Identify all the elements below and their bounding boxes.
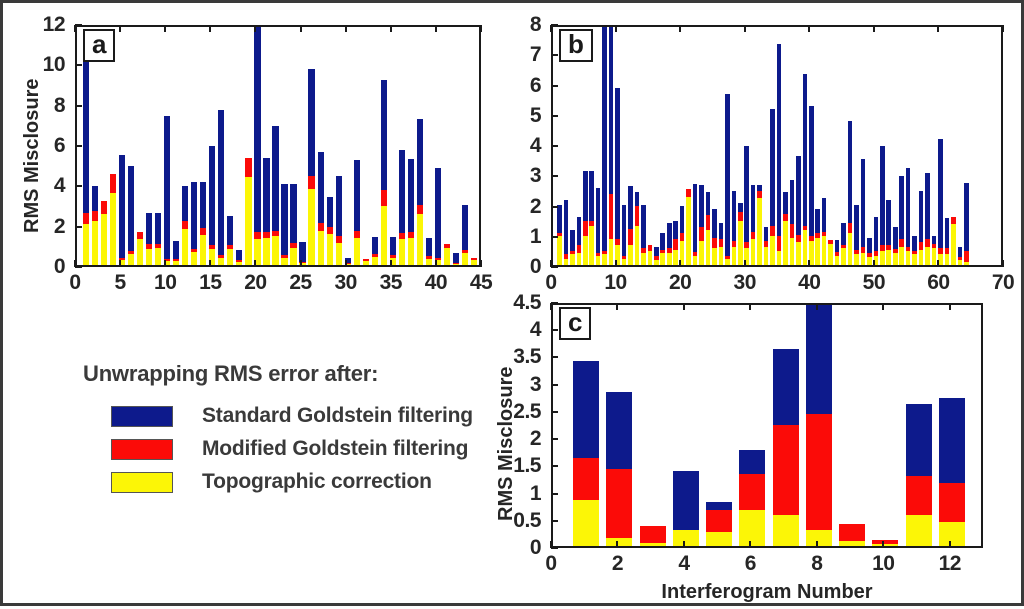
bar [880,146,885,265]
bar-segment-blue [673,221,678,239]
bar-segment-blue [263,158,269,232]
bar-segment-blue [706,502,732,510]
bar [564,200,569,265]
bar [744,146,749,265]
bar-segment-blue [919,191,924,242]
x-tick-mark [749,541,751,548]
bar-segment-red [453,263,459,264]
legend-swatch-topographic [111,472,173,493]
bar-segment-yellow [790,238,795,265]
bar-segment-blue [744,146,749,243]
bar-segment-yellow [609,239,614,265]
x-tick-label: 40 [425,271,447,295]
bar-segment-yellow [706,230,711,265]
bar [854,205,859,266]
y-tick-label: 6 [54,134,65,158]
bar-segment-yellow [182,229,188,265]
bar-segment-yellow [919,250,924,265]
x-tick-label: 10 [154,271,176,295]
bar-segment-blue [236,250,242,260]
bar [809,106,814,265]
bar-segment-red [919,242,924,250]
y-tick-label: 4 [530,318,541,342]
y-tick-label: 5 [530,104,541,128]
panel-b-tag: b [559,29,593,62]
x-tick-mark-top [808,25,810,32]
bar-segment-yellow [912,254,917,265]
bar-segment-blue [155,213,161,244]
y-tick-label: 8 [530,13,541,37]
bar-segment-yellow [318,231,324,265]
bar-segment-blue [426,238,432,256]
bar-segment-yellow [372,257,378,265]
bar-segment-red [635,206,640,226]
x-tick-mark-top [882,303,884,310]
bar-segment-red [426,256,432,259]
bar [408,159,414,265]
bar-segment-yellow [596,256,601,265]
bar-segment-blue [327,197,333,226]
x-tick-label: 6 [745,552,756,576]
y-tick-mark [75,226,82,228]
bar-segment-red [462,250,468,253]
bar-segment-yellow [453,264,459,265]
bar [444,244,450,265]
bar-segment-yellow [408,238,414,265]
x-tick-label: 20 [669,271,691,295]
bar [435,168,441,265]
x-tick-mark [808,260,810,267]
y-tick-label: 2 [54,215,65,239]
bar [815,209,820,265]
x-tick-mark-top [254,25,256,32]
bar-segment-blue [622,205,627,256]
bar-segment-yellow [290,248,296,265]
y-tick-mark [551,85,558,87]
bar-segment-yellow [835,256,840,265]
bar-segment-red [640,526,666,543]
bar-segment-red [660,250,665,253]
bar [557,205,562,266]
bar-segment-red [951,217,956,225]
bar-segment-blue [660,233,665,250]
bar-segment-yellow [110,193,116,265]
bar-segment-yellow [939,522,965,546]
bar [773,349,799,546]
bar-segment-yellow [354,238,360,265]
y-tick-mark [551,24,558,26]
bar [706,502,732,546]
bar-segment-blue [725,94,730,256]
y-tick-label: 3 [530,373,541,397]
bar-segment-blue [609,25,614,194]
x-tick-label: 70 [992,271,1014,295]
bar-segment-yellow [893,253,898,265]
bar-segment-yellow [777,251,782,265]
bar-segment-red [602,251,607,254]
bar [939,398,965,546]
bar-segment-yellow [606,538,632,546]
bar-segment-red [925,239,930,247]
bar [839,524,865,546]
bar-segment-yellow [719,247,724,265]
bar-segment-red [200,228,206,235]
panel-b: b 012345678 010203040506070 [503,3,1024,303]
bar-segment-red [609,194,614,239]
x-tick-label: 60 [927,271,949,295]
bar [200,182,206,265]
bar-segment-red [570,251,575,254]
bar-segment-yellow [899,247,904,265]
y-tick-label: 0 [530,255,541,279]
x-tick-label: 2 [612,552,623,576]
bar [680,206,685,265]
bar [667,223,672,265]
bar-segment-blue [912,236,917,251]
y-tick-mark [75,24,82,26]
bar-segment-red [848,223,853,234]
bar-segment-red [841,245,846,248]
legend-title: Unwrapping RMS error after: [83,361,503,387]
bar-segment-red [815,233,820,238]
bar-segment-yellow [770,236,775,265]
y-tick-mark [551,236,558,238]
bar [164,116,170,265]
bar [602,25,607,265]
bar-segment-yellow [236,262,242,265]
bar-segment-blue [815,209,820,233]
bar [764,227,769,265]
bar-segment-yellow [641,253,646,265]
bar-segment-blue [435,168,441,258]
bar-segment-blue [738,203,743,212]
bar-segment-yellow [155,248,161,265]
bar [272,126,278,265]
bar-segment-yellow [906,251,911,265]
x-tick-mark [550,260,552,267]
x-tick-mark [615,260,617,267]
y-tick-label: 2.5 [513,400,541,424]
legend-swatch-standard [111,406,173,427]
bar-segment-red [822,232,827,237]
bar-segment-red [272,231,278,236]
bar [577,217,582,265]
x-tick-label: 12 [939,552,961,576]
bar-segment-blue [706,192,711,215]
bar-segment-red [673,239,678,250]
panel-c-xlabel: Interferogram Number [551,581,983,604]
x-tick-label: 15 [199,271,221,295]
bar-segment-red [245,158,251,177]
bar [570,230,575,265]
x-tick-label: 4 [678,552,689,576]
bar [738,203,743,265]
bar-segment-blue [164,116,170,259]
bar [783,192,788,265]
bar-segment-blue [92,186,98,210]
bar [640,526,666,546]
x-tick-mark-top [615,25,617,32]
bar-segment-yellow [426,259,432,265]
bar-segment-blue [806,303,832,414]
bar-segment-red [417,205,423,214]
bar-segment-yellow [272,236,278,265]
bar-segment-blue [399,150,405,233]
x-tick-mark [816,541,818,548]
bar-segment-red [699,227,704,241]
x-tick-label: 30 [334,271,356,295]
bar-segment-red [648,245,653,251]
bar [835,240,840,265]
bar-segment-blue [925,173,930,240]
bar-segment-red [596,253,601,256]
y-tick-label: 12 [43,13,65,37]
legend-swatch-modified [111,439,173,460]
bar-segment-blue [119,155,125,258]
bar-segment-red [964,251,969,262]
bar-segment-yellow [128,254,134,265]
legend-item-topographic: Topographic correction [83,470,503,494]
x-tick-label: 0 [69,271,80,295]
bar-segment-red [381,190,387,205]
x-tick-mark [74,260,76,267]
y-tick-label: 4.5 [513,291,541,315]
bar [254,27,260,265]
y-tick-mark [75,105,82,107]
bar-segment-blue [867,238,872,253]
bar-segment-blue [191,182,197,249]
bar [958,247,963,265]
bar-segment-yellow [945,254,950,265]
bar-segment-blue [227,216,233,245]
x-tick-mark-top [74,25,76,32]
panel-c-tag: c [559,307,591,340]
bar-segment-red [399,233,405,239]
bar-segment-red [622,256,627,259]
bar-segment-yellow [739,510,765,546]
legend-item-modified: Modified Goldstein filtering [83,437,503,461]
bar-segment-yellow [648,251,653,265]
x-tick-mark-top [480,25,482,32]
bar-segment-red [912,251,917,255]
x-tick-mark [882,541,884,548]
bar-segment-red [680,233,685,241]
y-tick-label: 1.5 [513,454,541,478]
x-tick-mark [949,541,951,548]
legend: Unwrapping RMS error after: Standard Gol… [83,361,503,503]
bar-segment-blue [673,471,699,530]
bar-segment-blue [583,171,588,221]
bar-segment-blue [596,188,601,253]
x-tick-label: 10 [604,271,626,295]
bar-segment-red [899,239,904,247]
y-tick-mark [551,438,558,440]
bar-segment-yellow [673,530,699,546]
bar-segment-red [146,244,152,249]
bar-segment-blue [680,206,685,233]
panel-a-ylabel: RMS Misclosure [21,79,44,233]
bar [796,156,801,265]
bar-segment-red [874,251,879,256]
bar-segment-blue [182,186,188,220]
bar-segment-yellow [146,249,152,265]
bar-segment-red [872,540,898,544]
bar-segment-red [770,226,775,237]
bar [589,171,594,265]
bar-segment-blue [783,192,788,213]
bar [308,69,314,265]
bar-segment-yellow [783,221,788,265]
bar-segment-blue [939,398,965,483]
bar-segment-yellow [906,515,932,546]
y-tick-label: 8 [54,94,65,118]
bar [893,227,898,265]
bar [790,180,795,265]
y-tick-mark [551,493,558,495]
bar-segment-red [764,241,769,247]
bar [628,186,633,265]
bar-segment-red [839,524,865,540]
bar-segment-blue [308,69,314,176]
x-tick-mark-top [873,25,875,32]
bar-segment-yellow [564,259,569,265]
x-tick-mark-top [679,25,681,32]
x-tick-mark-top [345,25,347,32]
bar-segment-blue [417,119,423,205]
x-tick-mark [616,541,618,548]
x-tick-label: 10 [872,552,894,576]
bar-segment-red [191,249,197,252]
bar [573,361,599,546]
bar-segment-red [263,232,269,238]
bar-segment-red [308,176,314,189]
bar-segment-yellow [732,247,737,265]
x-tick-label: 0 [545,552,556,576]
bar-segment-red [773,425,799,515]
bar-segment-blue [83,49,89,212]
x-tick-label: 5 [115,271,126,295]
bar-segment-blue [254,27,260,232]
bar-segment-blue [809,106,814,236]
bar-segment-blue [564,200,569,254]
bar-segment-red [880,245,885,251]
bar [693,184,698,265]
bar-segment-yellow [281,258,287,265]
x-tick-mark-top [1002,25,1004,32]
bar-segment-red [372,254,378,257]
bar-segment-red [354,231,360,238]
y-tick-label: 7 [530,43,541,67]
x-tick-mark-top [949,303,951,310]
y-tick-mark [551,520,558,522]
bar-segment-blue [757,185,762,191]
bar-segment-red [236,260,242,262]
x-tick-mark-top [937,25,939,32]
bar-segment-yellow [841,248,846,265]
bar [822,198,827,265]
x-tick-mark [164,260,166,267]
bar-segment-red [577,245,582,253]
x-tick-mark-top [550,303,552,310]
bar-segment-yellow [589,226,594,265]
bar [899,176,904,265]
bar-segment-blue [699,185,704,227]
bar [861,159,866,265]
bar-segment-yellow [686,197,691,265]
panel-c: RMS Misclosure c 00.511.522.533.544.5 02… [483,293,1024,609]
x-tick-mark [550,541,552,548]
bar [706,192,711,265]
bar-segment-blue [893,227,898,250]
bar-segment-yellow [654,260,659,265]
bar-segment-blue [641,205,646,249]
bar-segment-yellow [673,250,678,265]
bar-segment-red [854,250,859,255]
bar [739,450,765,546]
bar [101,201,107,265]
bar-segment-blue [693,184,698,252]
bar-segment-blue [272,126,278,231]
bar [426,238,432,265]
bar-segment-blue [606,392,632,468]
bar-segment-blue [372,237,378,254]
bar-segment-blue [964,183,969,251]
x-tick-label: 35 [380,271,402,295]
legend-item-standard: Standard Goldstein filtering [83,404,503,428]
bar-segment-yellow [622,259,627,265]
bar-segment-blue [886,200,891,245]
bar-segment-yellow [381,206,387,265]
x-tick-label: 8 [811,552,822,576]
bar-segment-yellow [462,253,468,265]
bar [912,236,917,265]
bar-segment-red [667,248,672,253]
bar-segment-yellow [848,233,853,265]
bar [719,223,724,265]
bar [886,200,891,265]
bar-segment-yellow [218,258,224,265]
y-tick-label: 0 [54,255,65,279]
bar [906,168,911,265]
y-tick-label: 1 [530,225,541,249]
bar [363,259,369,265]
bar-segment-yellow [958,260,963,265]
bar-segment-blue [390,237,396,255]
bar-segment-blue [874,217,879,252]
bar-segment-red [809,236,814,241]
x-tick-label: 20 [244,271,266,295]
bar [660,233,665,265]
bar-segment-red [218,255,224,258]
bar-segment-yellow [200,235,206,265]
x-tick-mark [679,260,681,267]
bar-segment-yellow [635,226,640,265]
bar-segment-red [654,256,659,261]
bar-segment-red [906,476,932,515]
bar-segment-red [757,191,762,199]
bar-segment-red [628,229,633,246]
x-tick-mark [480,260,482,267]
bar-segment-yellow [822,236,827,265]
bar-segment-blue [290,184,296,242]
bar-segment-red [564,254,569,259]
bar-segment-yellow [667,253,672,265]
legend-label-standard: Standard Goldstein filtering [202,404,473,428]
bar-segment-red [101,201,107,213]
bar-segment-blue [841,223,846,246]
x-tick-mark [744,260,746,267]
bar-segment-yellow [471,260,477,265]
